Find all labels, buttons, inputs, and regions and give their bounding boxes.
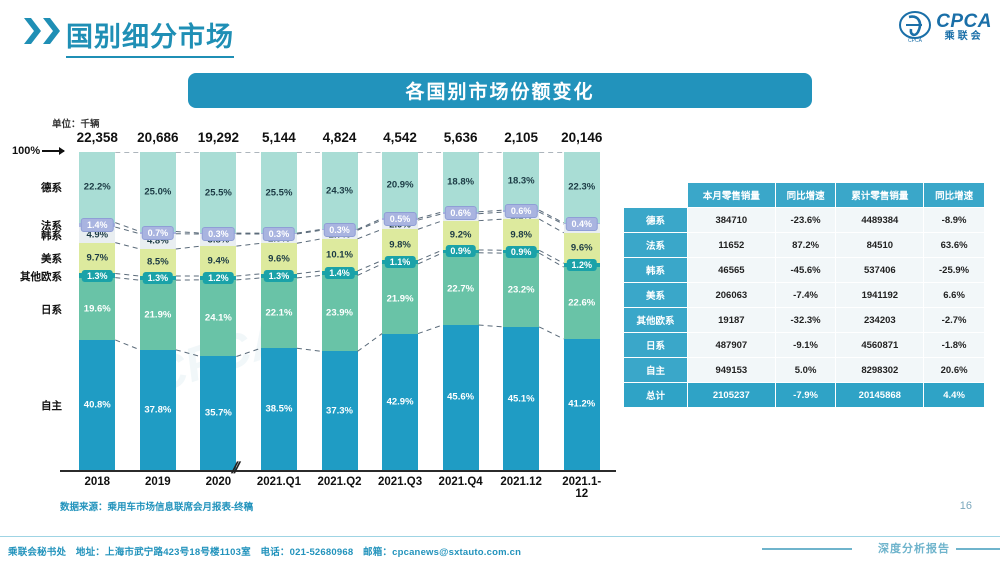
table-header-row: 本月零售销量同比增速累计零售销量同比增速 — [624, 183, 985, 208]
bar-value-label: 19.6% — [79, 303, 115, 314]
table-row: 其他欧系19187-32.3%234203-2.7% — [624, 308, 985, 333]
chart-bar-segment: 40.8% — [79, 340, 115, 470]
table-column-header: 同比增速 — [924, 183, 985, 208]
chart-column: 4,54220.9%2.9%9.8%21.9%42.9% — [382, 152, 418, 470]
table-cell: -8.9% — [924, 208, 985, 233]
x-tick-label: 2021.Q3 — [378, 476, 422, 488]
bar-value-label: 37.8% — [140, 404, 176, 415]
table-cell: 537406 — [836, 258, 924, 283]
table-column-header: 本月零售销量 — [688, 183, 776, 208]
bar-value-pill: 0.3% — [202, 227, 235, 241]
bar-value-label: 22.7% — [443, 283, 479, 294]
table-row-header: 美系 — [624, 283, 688, 308]
bar-value-label: 22.6% — [564, 298, 600, 309]
column-total-label: 22,358 — [69, 130, 125, 145]
page-number: 16 — [960, 500, 972, 512]
table-cell: 8298302 — [836, 358, 924, 383]
axis-top-label: 100% — [12, 145, 64, 157]
chart-bar-segment: 10.1% — [322, 239, 358, 271]
bar-value-label: 41.2% — [564, 399, 600, 410]
bar-value-pill: 1.2% — [203, 272, 234, 284]
bar-value-label: 25.0% — [140, 186, 176, 197]
bar-value-label: 23.9% — [322, 308, 358, 319]
table-cell: 384710 — [688, 208, 776, 233]
table-cell: -9.1% — [775, 333, 836, 358]
bar-value-label: 9.7% — [79, 253, 115, 264]
bar-value-pill: 1.1% — [385, 256, 416, 268]
chart-bar-segment: 37.3% — [322, 351, 358, 470]
table-cell: -32.3% — [775, 308, 836, 333]
bar-value-label: 25.5% — [200, 187, 236, 198]
series-label-3: 美系 — [0, 251, 62, 266]
bar-value-pill: 1.4% — [81, 218, 114, 232]
bar-value-pill: 0.3% — [323, 223, 356, 237]
table-cell: -1.8% — [924, 333, 985, 358]
chart-bar-segment: 18.8% — [443, 152, 479, 212]
table-cell: 11652 — [688, 233, 776, 258]
bar-value-pill: 0.7% — [142, 226, 175, 240]
column-total-label: 2,105 — [493, 130, 549, 145]
x-axis-line — [60, 470, 616, 472]
bar-value-label: 25.5% — [261, 187, 297, 198]
table-cell: 1941192 — [836, 283, 924, 308]
bar-value-label: 21.9% — [140, 309, 176, 320]
footer-divider — [0, 536, 1000, 537]
series-label-6: 自主 — [0, 398, 62, 413]
column-total-label: 5,636 — [433, 130, 489, 145]
report-tag: 深度分析报告 — [878, 540, 950, 556]
chart-bar-segment: 23.9% — [322, 275, 358, 351]
x-tick-label: 2021.1-12 — [558, 476, 606, 500]
table-cell: 46565 — [688, 258, 776, 283]
x-tick-label: 2019 — [145, 476, 171, 488]
bar-value-label: 18.3% — [503, 176, 539, 187]
bar-value-label: 9.8% — [382, 239, 418, 250]
bar-value-label: 42.9% — [382, 396, 418, 407]
page-title: 国别细分市场 — [66, 15, 234, 58]
chart-bar-segment: 24.3% — [322, 152, 358, 229]
table-cell: 206063 — [688, 283, 776, 308]
column-total-label: 20,146 — [554, 130, 610, 145]
table-cell: 20.6% — [924, 358, 985, 383]
chart-bar-segment: 41.2% — [564, 339, 600, 470]
series-label-5: 日系 — [0, 302, 62, 317]
chart-bar-segment: 38.5% — [261, 348, 297, 470]
bar-value-pill: 1.3% — [264, 270, 295, 282]
bar-value-pill: 0.4% — [565, 217, 598, 231]
table-row: 德系384710-23.6%4489384-8.9% — [624, 208, 985, 233]
table-cell: 487907 — [688, 333, 776, 358]
table-row-header: 日系 — [624, 333, 688, 358]
bar-value-pill: 1.3% — [143, 272, 174, 284]
table-row: 法系1165287.2%8451063.6% — [624, 233, 985, 258]
x-tick-label: 2018 — [84, 476, 110, 488]
table-cell: 6.6% — [924, 283, 985, 308]
bar-value-label: 9.8% — [503, 229, 539, 240]
bar-value-label: 21.9% — [382, 293, 418, 304]
table-cell: 234203 — [836, 308, 924, 333]
series-label-0: 德系 — [0, 180, 62, 195]
chart-bar-segment: 18.3% — [503, 152, 539, 210]
bar-value-label: 9.4% — [200, 256, 236, 267]
bar-value-label: 38.5% — [261, 404, 297, 415]
table-row-header: 韩系 — [624, 258, 688, 283]
chart-column: 19,29225.5%3.8%9.4%24.1%35.7% — [200, 152, 236, 470]
report-tag-rule-left — [762, 548, 852, 550]
column-total-label: 4,542 — [372, 130, 428, 145]
chart-bar-segment: 21.9% — [140, 280, 176, 350]
table-cell: -45.6% — [775, 258, 836, 283]
series-label-4: 其他欧系 — [0, 269, 62, 284]
table-cell: 4489384 — [836, 208, 924, 233]
table-cell: 5.0% — [775, 358, 836, 383]
table-row: 韩系46565-45.6%537406-25.9% — [624, 258, 985, 283]
bar-value-label: 20.9% — [382, 180, 418, 191]
bar-value-label: 35.7% — [200, 408, 236, 419]
bar-value-label: 45.6% — [443, 392, 479, 403]
table-cell: 87.2% — [775, 233, 836, 258]
bar-value-label: 8.5% — [140, 257, 176, 268]
column-total-label: 20,686 — [130, 130, 186, 145]
table-cell: 949153 — [688, 358, 776, 383]
table-total-row: 总计2105237-7.9%201458684.4% — [624, 383, 985, 408]
column-total-label: 19,292 — [190, 130, 246, 145]
x-tick-label: 2021.Q2 — [317, 476, 361, 488]
table-row: 日系487907-9.1%4560871-1.8% — [624, 333, 985, 358]
report-tag-rule-right — [956, 548, 1000, 550]
chart-bar-segment: 45.6% — [443, 325, 479, 470]
bar-value-pill: 1.2% — [566, 259, 597, 271]
table-column-header: 同比增速 — [775, 183, 836, 208]
bar-value-label: 9.2% — [443, 230, 479, 241]
table-row-header: 德系 — [624, 208, 688, 233]
chevron-double-right-icon — [24, 18, 60, 44]
logo-cn-text: 乘联会 — [945, 32, 984, 42]
table-row: 自主9491535.0%829830220.6% — [624, 358, 985, 383]
bar-value-pill: 0.6% — [444, 206, 477, 220]
cpca-logo: CPCA CPCA 乘联会 — [898, 10, 992, 44]
chart-column: 20,68625.0%4.8%8.5%21.9%37.8% — [140, 152, 176, 470]
bar-value-label: 18.8% — [443, 176, 479, 187]
chart-bar-segment: 22.3% — [564, 152, 600, 223]
cpca-emblem-icon: CPCA — [898, 10, 932, 44]
chart-title-banner: 各国别市场份额变化 — [188, 73, 812, 108]
chart-bar-segment: 45.1% — [503, 327, 539, 470]
bar-value-label: 40.8% — [79, 399, 115, 410]
bar-value-label: 22.1% — [261, 308, 297, 319]
table-column-header: 累计零售销量 — [836, 183, 924, 208]
chart-bar-segment: 37.8% — [140, 350, 176, 470]
chart-bar-segment: 19.6% — [79, 278, 115, 340]
unit-label: 单位：千辆 — [52, 116, 100, 130]
table-cell: -7.4% — [775, 283, 836, 308]
x-tick-label: 2020 — [206, 476, 232, 488]
chart-bar-segment: 25.5% — [261, 152, 297, 233]
chart-column: 2,10518.3%2.2%9.8%23.2%45.1% — [503, 152, 539, 470]
table-cell: -23.6% — [775, 208, 836, 233]
chart-bar-segment: 25.0% — [140, 152, 176, 232]
column-total-label: 4,824 — [312, 130, 368, 145]
chart-plot-area: 22,35822.2%4.9%9.7%19.6%40.8%20,68625.0%… — [67, 152, 612, 470]
chart-bar-segment: 22.7% — [443, 253, 479, 325]
chart-bar-segment: 35.7% — [200, 356, 236, 470]
bar-value-label: 24.1% — [200, 313, 236, 324]
chart-bar-segment: 24.1% — [200, 280, 236, 357]
chart-bar-segment: 22.6% — [564, 267, 600, 339]
table-cell: 4560871 — [836, 333, 924, 358]
chart-column: 22,35822.2%4.9%9.7%19.6%40.8% — [79, 152, 115, 470]
table-cell: 19187 — [688, 308, 776, 333]
table-corner-cell — [624, 183, 688, 208]
bar-value-label: 9.6% — [261, 253, 297, 264]
table-row: 美系206063-7.4%19411926.6% — [624, 283, 985, 308]
x-tick-label: 2021.12 — [500, 476, 542, 488]
table-cell: -7.9% — [775, 383, 836, 408]
table-cell: 84510 — [836, 233, 924, 258]
chart-bar-segment: 42.9% — [382, 334, 418, 470]
chart-bar-segment: 21.9% — [382, 264, 418, 334]
slide-header: 国别细分市场 CPCA CPCA 乘联会 — [0, 0, 1000, 62]
bar-value-pill: 0.6% — [505, 204, 538, 218]
table-cell: 4.4% — [924, 383, 985, 408]
column-total-label: 5,144 — [251, 130, 307, 145]
svg-text:CPCA: CPCA — [908, 38, 923, 44]
chart-column: 4,82424.3%2.7%10.1%23.9%37.3% — [322, 152, 358, 470]
table-row-header: 法系 — [624, 233, 688, 258]
table-row-header: 自主 — [624, 358, 688, 383]
stacked-bar-chart: 单位：千辆 100% 德系法系韩系美系其他欧系日系自主 22,35822.2%4… — [0, 112, 630, 512]
table-cell: -25.9% — [924, 258, 985, 283]
chart-bar-segment: 22.1% — [261, 278, 297, 348]
bar-value-pill: 1.4% — [324, 267, 355, 279]
chart-title: 各国别市场份额变化 — [405, 77, 594, 104]
table-body: 德系384710-23.6%4489384-8.9%法系1165287.2%84… — [624, 208, 985, 408]
bar-value-pill: 0.9% — [445, 245, 476, 257]
bar-value-pill: 1.3% — [82, 270, 113, 282]
bar-value-label: 10.1% — [322, 249, 358, 260]
table-row-header: 总计 — [624, 383, 688, 408]
bar-value-label: 23.2% — [503, 284, 539, 295]
footer-contact: 乘联会秘书处 地址：上海市武宁路423号18号楼1103室 电话：021-526… — [8, 544, 521, 558]
source-note: 数据来源：乘用车市场信息联席会月报表-终稿 — [60, 499, 253, 513]
table-cell: 2105237 — [688, 383, 776, 408]
chart-bar-segment: 25.5% — [200, 152, 236, 233]
bar-value-label: 37.3% — [322, 405, 358, 416]
table-row-header: 其他欧系 — [624, 308, 688, 333]
arrow-right-icon — [42, 150, 64, 152]
chart-bar-segment: 23.2% — [503, 253, 539, 327]
chart-bar-segment: 22.2% — [79, 152, 115, 223]
bar-value-label: 9.6% — [564, 243, 600, 254]
bar-value-label: 22.3% — [564, 182, 600, 193]
bar-value-pill: 0.9% — [506, 246, 537, 258]
table-cell: -2.7% — [924, 308, 985, 333]
x-tick-label: 2021.Q4 — [439, 476, 483, 488]
chart-column: 5,63618.8%2.2%9.2%22.7%45.6% — [443, 152, 479, 470]
chart-column: 20,14622.3%2.7%9.6%22.6%41.2% — [564, 152, 600, 470]
bar-value-label: 24.3% — [322, 185, 358, 196]
series-label-2: 韩系 — [0, 228, 62, 243]
bar-value-label: 45.1% — [503, 393, 539, 404]
x-tick-label: 2021.Q1 — [257, 476, 301, 488]
bar-value-label: 22.2% — [79, 182, 115, 193]
chart-column: 5,14425.5%2.9%9.6%22.1%38.5% — [261, 152, 297, 470]
sales-data-table: 本月零售销量同比增速累计零售销量同比增速 德系384710-23.6%44893… — [623, 182, 985, 408]
bar-value-pill: 0.5% — [384, 212, 417, 226]
table-cell: 20145868 — [836, 383, 924, 408]
bar-value-pill: 0.3% — [263, 227, 296, 241]
logo-cpca-text: CPCA — [936, 12, 992, 31]
chart-bar-segment: 20.9% — [382, 152, 418, 218]
table-cell: 63.6% — [924, 233, 985, 258]
